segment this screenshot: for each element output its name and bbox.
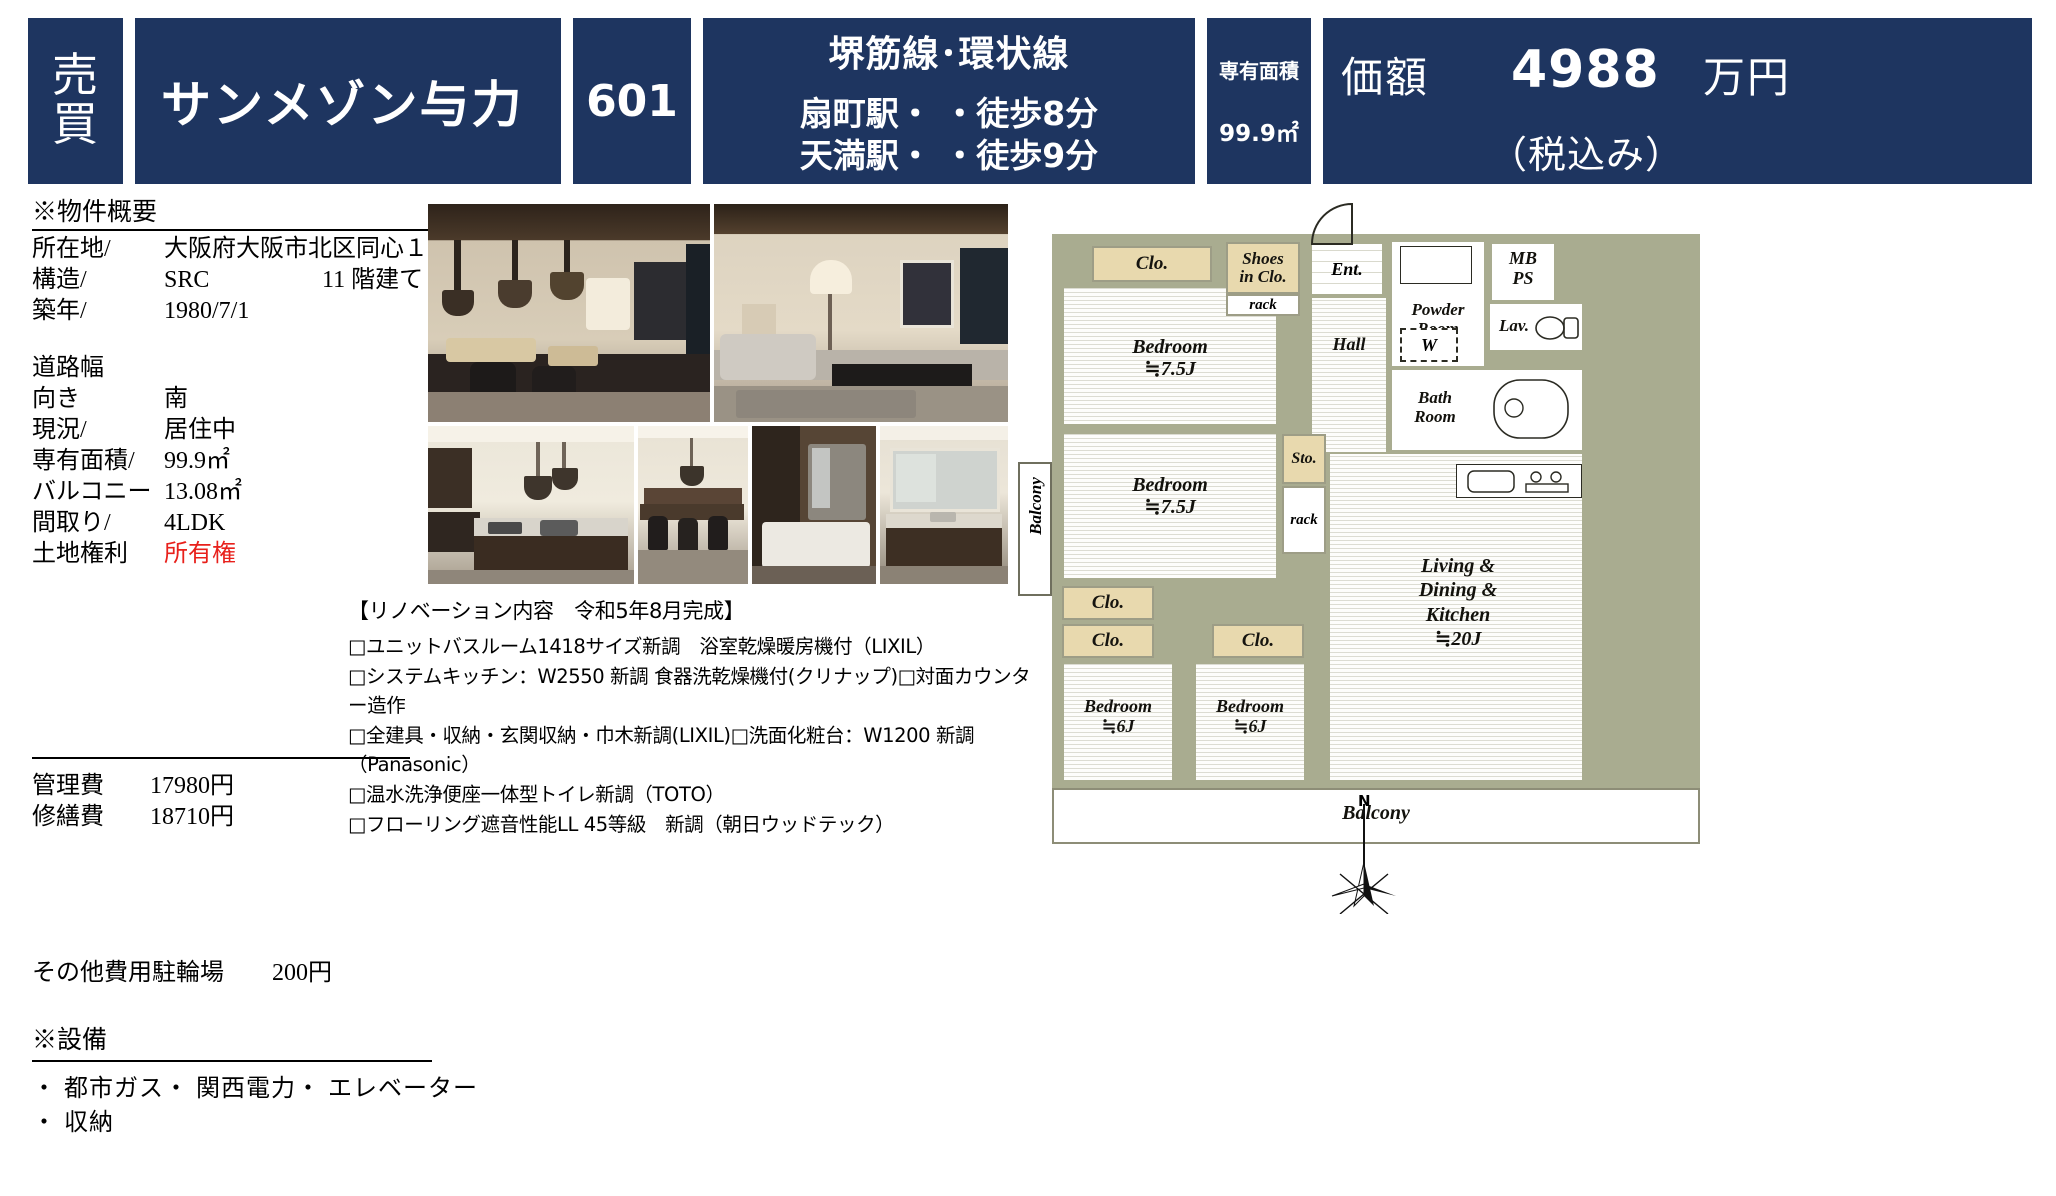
station-1: 扇町駅・ ・徒歩8分 (800, 93, 1098, 135)
fee-key: 管理費 (32, 765, 150, 800)
plan-hall (1310, 296, 1388, 454)
plan-washer-space: W (1400, 328, 1458, 362)
price-value: 4988 (1511, 40, 1660, 100)
plan-room-bedroom-bottom-left (1062, 662, 1174, 782)
overview-key: 現況/ (32, 418, 164, 442)
overview-row-direction: 向き 南 (32, 387, 432, 418)
sink-and-stove-icon (1466, 468, 1576, 496)
renovation-item-1: □ユニットバスルーム1418サイズ新調 浴室乾燥暖房機付（LIXIL） (348, 632, 1038, 662)
renovation-item-2: □システムキッチン：W2550 新調 食器洗乾燥機付(クリナップ)□対面カウンタ… (348, 662, 1038, 721)
plan-rack-middle: rack (1282, 486, 1326, 554)
equipment-rule (32, 1060, 432, 1062)
overview-value: 99.9㎡ (164, 449, 432, 473)
exclusive-area-label: 専有面積 (1219, 55, 1299, 84)
price-box: 価額 4988 万円 （税込み） (1323, 18, 2032, 184)
equipment-line-2: ・ 収納 (32, 1102, 432, 1136)
deal-type-char-1: 売 (52, 52, 99, 101)
plan-storage: Sto. (1282, 434, 1326, 484)
floor-plan: Bedroom ≒7.5J Clo. Shoes in Clo. rack En… (1018, 196, 2038, 1176)
plan-room-bedroom-middle-left (1062, 432, 1278, 580)
plan-closet-left-1: Clo. (1062, 586, 1154, 620)
header-divider-4 (1199, 18, 1203, 184)
overview-key: 築年/ (32, 299, 164, 323)
renovation-item-5: □フローリング遮音性能LL 45等級 新調（朝日ウッドテック） (348, 810, 1038, 840)
overview-value: 13.08㎡ (164, 480, 432, 504)
equipment-section: ※設備 ・ 都市ガス・ 関西電力・ エレベーター ・ 収納 (32, 1020, 432, 1136)
photo-dining (638, 426, 748, 584)
other-fee-value: 200円 (272, 960, 332, 986)
exclusive-area-value: 99.9㎡ (1219, 114, 1299, 148)
overview-value: 居住中 (164, 418, 432, 442)
overview-row-structure: 構造/ SRC 11 階建て (32, 268, 432, 299)
overview-key: 間取り/ (32, 511, 164, 535)
plan-room-ldk (1328, 452, 1584, 782)
exclusive-area-box: 専有面積 99.9㎡ (1207, 18, 1311, 184)
overview-row-address: 所在地/ 大阪府大阪市北区同心１丁目9 (32, 237, 432, 268)
renovation-heading: 【リノベーション内容 令和5年8月完成】 (348, 596, 1038, 628)
overview-row-area: 専有面積/ 99.9㎡ (32, 449, 432, 480)
plan-entrance: Ent. (1310, 242, 1384, 296)
header-divider-2 (565, 18, 569, 184)
entrance-door-swing-icon (1310, 202, 1366, 246)
renovation-details: 【リノベーション内容 令和5年8月完成】 □ユニットバスルーム1418サイズ新調… (348, 596, 1038, 839)
photo-kitchen (428, 426, 634, 584)
equipment-title: ※設備 (32, 1020, 432, 1059)
plan-shoes-in-closet: Shoes in Clo. (1226, 242, 1300, 294)
overview-value: 南 (164, 387, 432, 411)
photo-living-room (714, 204, 1008, 422)
overview-value: SRC (164, 268, 322, 292)
overview-title: ※物件概要 (32, 200, 432, 228)
header-divider-5 (1315, 18, 1319, 184)
plan-closet-top-1: Clo. (1092, 246, 1212, 282)
overview-value-2: 11 階建て (322, 268, 423, 292)
other-fee-row: その他費用駐輪場 200円 (32, 952, 332, 987)
plan-room-bedroom-bottom-middle (1194, 662, 1306, 782)
toilet-icon (1534, 308, 1582, 348)
overview-value: 4LDK (164, 511, 432, 535)
price-unit: 万円 (1703, 44, 1791, 105)
overview-row-balcony: バルコニー 13.08㎡ (32, 480, 432, 511)
photo-vanity (880, 426, 1008, 584)
property-overview: ※物件概要 所在地/ 大阪府大阪市北区同心１丁目9 構造/ SRC 11 階建て… (32, 200, 432, 573)
plan-label-side-balcony: Balcony (1026, 456, 1046, 556)
other-fee-label: その他費用駐輪場 (32, 960, 224, 986)
plan-powder-counter (1400, 246, 1472, 284)
header-divider-1 (127, 18, 131, 184)
renovation-item-3: □全建具・収納・玄関収納・巾木新調(LIXIL)□洗面化粧台：W1200 新調（… (348, 721, 1038, 780)
price-tax-note: （税込み） (1489, 124, 1684, 179)
listing-header: 売 買 サンメゾン与力 601 堺筋線･環状線 扇町駅・ ・徒歩8分 天満駅・ … (28, 18, 2032, 184)
property-name: サンメゾン与力 (135, 18, 561, 184)
overview-key: 土地権利 (32, 542, 164, 566)
plan-closet-middle: Clo. (1212, 624, 1304, 658)
overview-row-roadwidth: 道路幅 (32, 356, 432, 387)
header-divider-3 (695, 18, 699, 184)
bathtub-icon (1488, 374, 1580, 446)
overview-row-landright: 土地権利 所有権 (32, 542, 432, 573)
price-label: 価額 (1341, 44, 1429, 105)
station-2: 天満駅・ ・徒歩9分 (800, 135, 1098, 177)
overview-value: 1980/7/1 (164, 299, 432, 323)
equipment-line-1: ・ 都市ガス・ 関西電力・ エレベーター (32, 1068, 432, 1102)
photo-bathroom (752, 426, 876, 584)
overview-key: 専有面積/ (32, 449, 164, 473)
overview-rule (32, 229, 432, 231)
deal-type-badge: 売 買 (28, 18, 123, 184)
transit-info: 堺筋線･環状線 扇町駅・ ・徒歩8分 天満駅・ ・徒歩9分 (703, 18, 1195, 184)
overview-key: 所在地/ (32, 237, 164, 261)
overview-key: 構造/ (32, 268, 164, 292)
room-number: 601 (573, 18, 691, 184)
photo-collage (428, 204, 1008, 584)
overview-row-status: 現況/ 居住中 (32, 418, 432, 449)
compass-rose-icon (1326, 804, 1426, 914)
fee-key: 修繕費 (32, 796, 150, 831)
overview-row-builtyear: 築年/ 1980/7/1 (32, 299, 432, 330)
spacer (32, 330, 432, 356)
overview-key: バルコニー (32, 480, 164, 504)
overview-key: 向き (32, 387, 164, 411)
plan-closet-left-2: Clo. (1062, 624, 1154, 658)
deal-type-char-2: 買 (52, 101, 99, 150)
train-lines: 堺筋線･環状線 (828, 25, 1069, 77)
overview-value-highlight: 所有権 (164, 542, 432, 566)
plan-mb-ps-inner (1492, 244, 1554, 300)
renovation-item-4: □温水洗浄便座一体型トイレ新調（TOTO） (348, 780, 1038, 810)
plan-shoes-rack: rack (1226, 294, 1300, 316)
overview-key: 道路幅 (32, 356, 164, 380)
overview-row-layout: 間取り/ 4LDK (32, 511, 432, 542)
photo-living-dining (428, 204, 710, 422)
